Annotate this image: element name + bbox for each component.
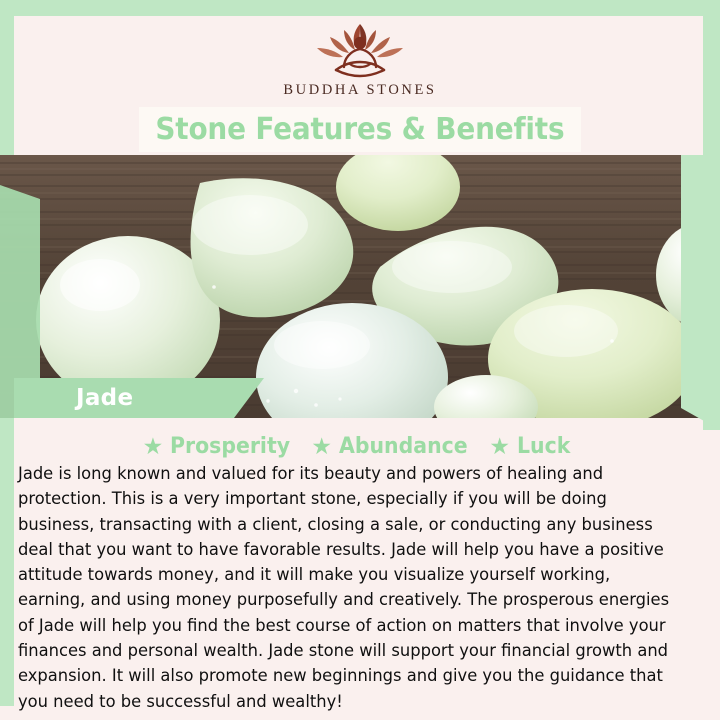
keyword-label: Luck — [517, 434, 570, 459]
cream-bleed-right — [690, 430, 720, 720]
page-title: Stone Features & Benefits — [156, 112, 565, 147]
keyword-label: Prosperity — [170, 434, 290, 459]
star-icon: ★ — [143, 435, 164, 458]
poster: BUDDHA STONES Stone Features & Benefits — [0, 0, 720, 720]
star-icon: ★ — [311, 435, 332, 458]
keyword-list: ★ Prosperity ★ Abundance ★ Luck — [14, 430, 703, 462]
stone-name-label: Jade — [76, 385, 133, 411]
title-banner: Stone Features & Benefits — [139, 107, 581, 152]
decorative-chevron-right — [681, 155, 720, 430]
brand-logo: BUDDHA STONES — [0, 18, 720, 106]
keyword-item-abundance: ★ Abundance — [311, 434, 477, 459]
stone-name-ribbon: Jade — [14, 378, 264, 418]
lotus-meditation-figure-icon — [300, 18, 420, 80]
brand-name: BUDDHA STONES — [283, 82, 436, 99]
keyword-label: Abundance — [339, 434, 468, 459]
stone-description: Jade is long known and valued for its be… — [18, 462, 671, 715]
keyword-item-luck: ★ Luck — [489, 434, 574, 459]
star-icon: ★ — [489, 435, 510, 458]
keyword-item-prosperity: ★ Prosperity — [143, 434, 300, 459]
